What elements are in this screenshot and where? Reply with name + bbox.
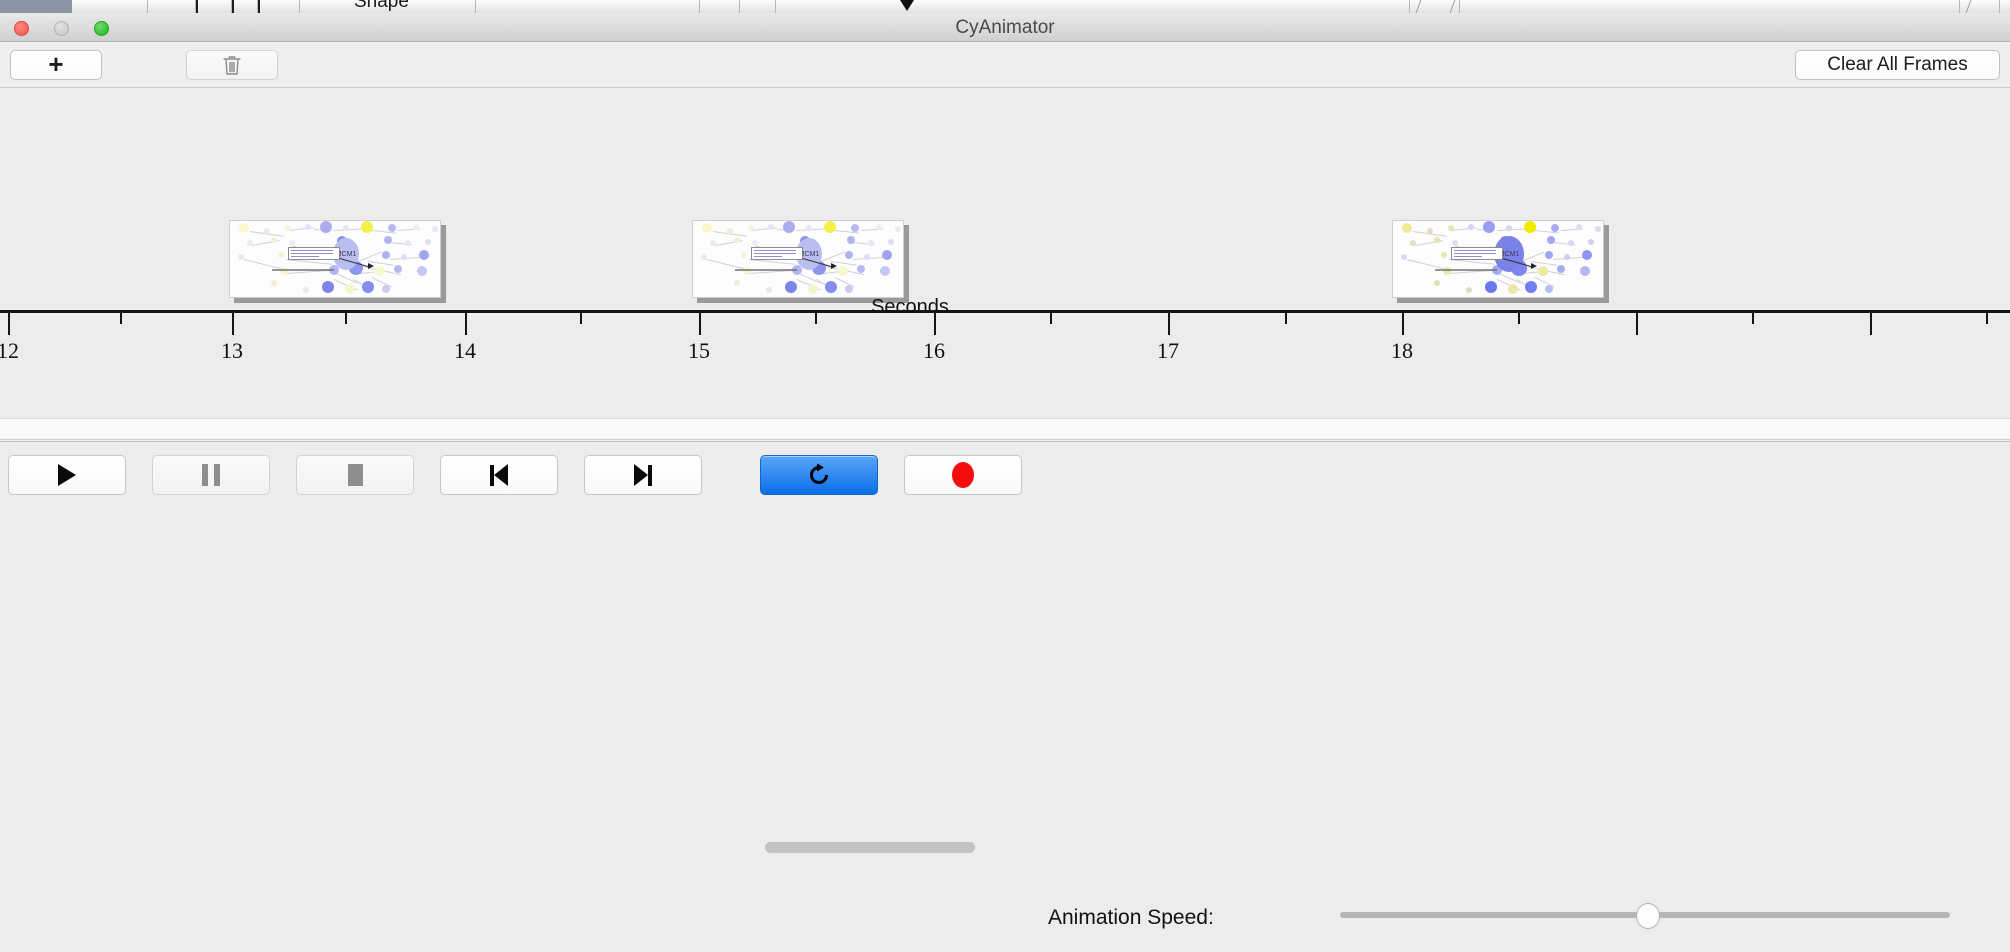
graph-node bbox=[285, 225, 291, 231]
graph-node bbox=[247, 240, 253, 246]
graph-node bbox=[384, 236, 392, 244]
background-window-segment bbox=[1460, 0, 1960, 13]
graph-node bbox=[401, 254, 407, 260]
background-window-segment bbox=[700, 0, 740, 13]
graph-node bbox=[876, 224, 882, 230]
graph-node bbox=[343, 225, 349, 231]
graph-node bbox=[278, 252, 284, 258]
background-window-segment bbox=[196, 0, 232, 13]
axis-tick bbox=[1870, 313, 1872, 335]
callout-arrowhead-icon bbox=[368, 263, 374, 269]
graph-node bbox=[701, 254, 707, 260]
graph-node bbox=[1508, 284, 1519, 295]
pause-button[interactable] bbox=[152, 455, 270, 495]
graph-node bbox=[320, 221, 332, 233]
graph-node bbox=[303, 287, 309, 293]
playback-control-bar: Animation Speed: bbox=[0, 441, 2010, 510]
background-window-sidebar bbox=[0, 0, 72, 13]
graph-node bbox=[1434, 280, 1440, 286]
background-window-segment bbox=[232, 0, 258, 13]
graph-node bbox=[322, 281, 334, 293]
graph-node bbox=[361, 221, 373, 233]
graph-tooltip-callout bbox=[1451, 247, 1503, 260]
background-window-strip: Shape bbox=[0, 0, 2010, 13]
record-button[interactable] bbox=[904, 455, 1022, 495]
axis-tick bbox=[1986, 313, 1988, 324]
axis-tick bbox=[815, 313, 817, 324]
graph-node bbox=[1557, 265, 1566, 274]
axis-tick bbox=[699, 313, 701, 335]
graph-node bbox=[1595, 226, 1601, 232]
background-window-segment bbox=[72, 0, 148, 13]
background-window-segment bbox=[776, 0, 1410, 13]
axis-tick-label: 15 bbox=[688, 338, 710, 364]
graph-edge bbox=[1497, 228, 1527, 231]
background-window-tick bbox=[258, 0, 260, 13]
record-icon bbox=[952, 462, 974, 488]
axis-tick bbox=[1050, 313, 1052, 324]
title-bar: CyAnimator bbox=[0, 13, 2010, 42]
graph-node bbox=[857, 265, 865, 273]
graph-node bbox=[1545, 251, 1554, 260]
graph-node bbox=[785, 281, 797, 293]
graph-node bbox=[419, 250, 429, 260]
graph-node bbox=[1524, 221, 1537, 234]
graph-node bbox=[375, 266, 385, 276]
timeline-scrollbar-track[interactable] bbox=[0, 418, 2010, 440]
delete-frame-button[interactable] bbox=[186, 50, 278, 80]
graph-node bbox=[239, 223, 249, 233]
axis-tick-label: 12 bbox=[0, 338, 19, 364]
graph-node bbox=[825, 281, 837, 293]
axis-tick bbox=[120, 313, 122, 324]
graph-node bbox=[362, 281, 374, 293]
graph-node bbox=[345, 284, 355, 294]
graph-node bbox=[768, 224, 774, 230]
play-button[interactable] bbox=[8, 455, 126, 495]
graph-node bbox=[888, 239, 894, 245]
graph-node bbox=[808, 284, 818, 294]
graph-node bbox=[425, 239, 431, 245]
network-graph-canvas: MCM1 bbox=[692, 220, 904, 298]
frame-thumbnail-1[interactable]: MCM1 bbox=[229, 220, 444, 300]
timeline-axis bbox=[0, 310, 2010, 313]
callout-text-line bbox=[1454, 256, 1482, 257]
graph-node bbox=[741, 252, 747, 258]
axis-tick bbox=[1285, 313, 1287, 324]
add-frame-button[interactable]: + bbox=[10, 50, 102, 80]
graph-node bbox=[1545, 285, 1554, 294]
graph-node bbox=[1564, 254, 1570, 260]
network-graph-canvas: MCM1 bbox=[1392, 220, 1604, 298]
graph-node bbox=[1483, 221, 1496, 234]
window-title: CyAnimator bbox=[0, 13, 2010, 42]
graph-node bbox=[388, 224, 396, 232]
background-window-tick bbox=[196, 0, 198, 13]
axis-tick-label: 13 bbox=[221, 338, 243, 364]
background-window-segment bbox=[148, 0, 196, 13]
graph-node bbox=[1538, 266, 1549, 277]
callout-text-line bbox=[754, 253, 796, 254]
graph-node bbox=[1468, 224, 1474, 230]
background-window-label: Shape bbox=[354, 0, 409, 13]
axis-tick bbox=[1752, 313, 1754, 324]
graph-node bbox=[806, 225, 812, 231]
graph-node bbox=[271, 280, 277, 286]
graph-node bbox=[845, 251, 853, 259]
axis-tick bbox=[1636, 313, 1638, 335]
axis-tick bbox=[232, 313, 234, 335]
axis-tick-label: 17 bbox=[1157, 338, 1179, 364]
skip-forward-icon bbox=[634, 464, 652, 486]
network-graph-canvas: MCM1 bbox=[229, 220, 441, 298]
graph-node bbox=[734, 237, 740, 243]
axis-tick bbox=[1518, 313, 1520, 324]
callout-text-line bbox=[1454, 250, 1496, 251]
background-window-tick bbox=[232, 0, 234, 13]
graph-node bbox=[271, 237, 277, 243]
graph-node bbox=[382, 285, 390, 293]
axis-tick bbox=[8, 313, 10, 335]
graph-node bbox=[895, 226, 901, 232]
graph-node bbox=[727, 228, 733, 234]
graph-node bbox=[1434, 237, 1440, 243]
axis-tick-label: 16 bbox=[923, 338, 945, 364]
callout-text-line bbox=[754, 256, 782, 257]
graph-node bbox=[264, 228, 270, 234]
graph-node bbox=[1580, 266, 1591, 277]
background-window-cursor-icon bbox=[900, 0, 914, 11]
graph-edge bbox=[334, 228, 364, 231]
animation-speed-label: Animation Speed: bbox=[1048, 883, 1214, 952]
graph-node bbox=[1588, 239, 1594, 245]
graph-node bbox=[734, 280, 740, 286]
stop-button[interactable] bbox=[296, 455, 414, 495]
loop-button[interactable] bbox=[760, 455, 878, 495]
graph-node bbox=[702, 223, 712, 233]
graph-node bbox=[289, 240, 295, 246]
graph-node bbox=[382, 251, 390, 259]
graph-node bbox=[868, 240, 874, 246]
clear-all-frames-button[interactable]: Clear All Frames bbox=[1795, 50, 2000, 80]
graph-tooltip-callout bbox=[751, 247, 803, 260]
graph-annotation-note bbox=[1435, 269, 1497, 271]
graph-node bbox=[847, 236, 855, 244]
callout-text-line bbox=[754, 250, 796, 251]
axis-tick bbox=[580, 313, 582, 324]
callout-text-line bbox=[1454, 253, 1496, 254]
graph-node bbox=[417, 266, 427, 276]
callout-text-line bbox=[291, 256, 319, 257]
graph-edge bbox=[797, 228, 827, 231]
graph-node bbox=[882, 250, 892, 260]
plus-icon: + bbox=[48, 53, 63, 76]
axis-tick bbox=[1402, 313, 1404, 335]
callout-text-line bbox=[291, 250, 333, 251]
graph-node bbox=[238, 254, 244, 260]
graph-node bbox=[824, 221, 836, 233]
graph-annotation-note bbox=[735, 269, 797, 271]
callout-text-line bbox=[291, 253, 333, 254]
background-window-segment bbox=[476, 0, 700, 13]
background-window-segment bbox=[258, 0, 300, 13]
timeline-scrollbar-thumb[interactable] bbox=[765, 842, 975, 853]
graph-node bbox=[766, 287, 772, 293]
graph-node bbox=[838, 266, 848, 276]
graph-node bbox=[1466, 287, 1472, 293]
skip-back-icon bbox=[490, 464, 508, 486]
graph-node bbox=[880, 266, 890, 276]
graph-node bbox=[1441, 252, 1447, 258]
graph-node bbox=[864, 254, 870, 260]
graph-node bbox=[394, 265, 402, 273]
graph-node bbox=[710, 240, 716, 246]
graph-node bbox=[845, 285, 853, 293]
axis-tick bbox=[1168, 313, 1170, 335]
stop-icon bbox=[348, 464, 363, 486]
axis-tick bbox=[345, 313, 347, 324]
axis-tick bbox=[465, 313, 467, 335]
graph-node bbox=[432, 226, 438, 232]
graph-node bbox=[413, 224, 419, 230]
graph-node bbox=[1525, 281, 1538, 294]
graph-node bbox=[305, 224, 311, 230]
graph-node bbox=[1485, 281, 1498, 294]
graph-node bbox=[1551, 224, 1560, 233]
animation-speed-slider-knob[interactable] bbox=[1636, 903, 1660, 929]
graph-node bbox=[1402, 223, 1413, 234]
graph-node bbox=[752, 240, 758, 246]
axis-label-seconds: Seconds bbox=[871, 296, 949, 319]
play-icon bbox=[58, 464, 76, 486]
graph-tooltip-callout bbox=[288, 247, 340, 260]
callout-arrowhead-icon bbox=[831, 263, 837, 269]
graph-node bbox=[405, 240, 411, 246]
graph-node bbox=[1582, 250, 1593, 261]
axis-tick-label: 14 bbox=[454, 338, 476, 364]
frame-thumbnail-3[interactable]: MCM1 bbox=[1392, 220, 1607, 300]
callout-arrowhead-icon bbox=[1531, 263, 1537, 269]
graph-node bbox=[783, 221, 795, 233]
skip-next-button[interactable] bbox=[584, 455, 702, 495]
graph-annotation-note bbox=[272, 269, 334, 271]
graph-node bbox=[748, 225, 754, 231]
trash-icon bbox=[222, 54, 242, 76]
graph-node bbox=[851, 224, 859, 232]
timeline-panel[interactable]: MCM1MCM1MCM1 12131415161718 Seconds bbox=[0, 88, 2010, 418]
toolbar: + Clear All Frames bbox=[0, 42, 2010, 88]
background-window-segment bbox=[740, 0, 776, 13]
pause-icon bbox=[202, 464, 220, 486]
skip-previous-button[interactable] bbox=[440, 455, 558, 495]
frame-thumbnail-2[interactable]: MCM1 bbox=[692, 220, 907, 300]
axis-tick-label: 18 bbox=[1391, 338, 1413, 364]
loop-icon bbox=[806, 462, 832, 488]
